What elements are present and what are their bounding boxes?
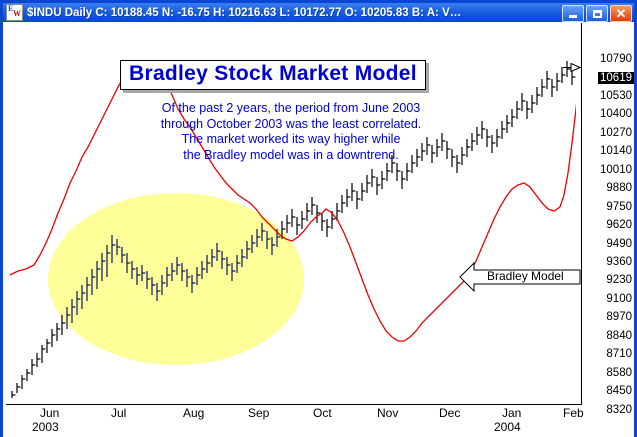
date-tick-jul: Jul	[111, 406, 126, 420]
price-tick-9750: 9750	[606, 201, 632, 213]
chart-client-area: 1079010660105301040010270101401001098809…	[3, 22, 634, 437]
price-tick-9100: 9100	[606, 293, 632, 305]
callout-label: Bradley Model	[487, 269, 564, 283]
y-axis-line	[581, 23, 582, 405]
date-tick-sep: Sep	[248, 406, 269, 420]
bradley-model-callout: Bradley Model	[459, 262, 581, 292]
date-tick-nov: Nov	[377, 406, 398, 420]
application-window: E W $INDU Daily C: 10188.45 N: -16.75 H:…	[0, 0, 637, 437]
price-tick-9620: 9620	[606, 219, 632, 231]
icon-letter-w: W	[13, 10, 21, 18]
annotation-text-block: Of the past 2 years, the period from Jun…	[135, 101, 447, 163]
price-tick-9880: 9880	[606, 182, 632, 194]
price-tick-8970: 8970	[606, 311, 632, 323]
title-bar[interactable]: E W $INDU Daily C: 10188.45 N: -16.75 H:…	[3, 3, 634, 22]
price-tick-10790: 10790	[600, 53, 632, 65]
maximize-button[interactable]	[586, 5, 608, 22]
price-tick-8450: 8450	[606, 385, 632, 397]
price-tick-9490: 9490	[606, 238, 632, 250]
annotation-line-4: the Bradley model was in a downtrend.	[135, 148, 447, 164]
price-tick-10400: 10400	[600, 108, 632, 120]
date-tick-aug: Aug	[183, 406, 204, 420]
date-tick-dec: Dec	[439, 406, 460, 420]
window-title: $INDU Daily C: 10188.45 N: -16.75 H: 102…	[27, 7, 461, 19]
date-tick-oct: Oct	[313, 406, 332, 420]
window-controls: ✕	[562, 5, 632, 22]
minimize-button[interactable]	[562, 5, 584, 22]
date-tick-jun: Jun	[40, 406, 59, 420]
current-price-marker-icon	[563, 63, 581, 72]
price-tick-9230: 9230	[606, 274, 632, 286]
annotation-line-3: The market worked its way higher while	[135, 132, 447, 148]
date-year-2004: 2004	[494, 420, 521, 434]
annotation-line-1: Of the past 2 years, the period from Jun…	[135, 101, 447, 117]
close-icon: ✕	[616, 7, 627, 20]
date-axis: Jun2003JulAugSepOctNovDecJan2004Feb	[3, 406, 634, 436]
price-tick-8710: 8710	[606, 348, 632, 360]
date-tick-jan: Jan	[502, 406, 521, 420]
close-button[interactable]: ✕	[610, 5, 632, 22]
x-axis-line	[6, 404, 582, 405]
annotation-line-2: through October 2003 was the least corre…	[135, 117, 447, 133]
date-tick-feb: Feb	[563, 406, 584, 420]
chart-title-box: Bradley Stock Market Model	[120, 60, 426, 90]
price-axis[interactable]: 1079010660105301040010270101401001098809…	[585, 22, 634, 406]
chart-title-text: Bradley Stock Market Model	[129, 62, 417, 85]
minimize-icon	[569, 15, 577, 18]
price-tick-10010: 10010	[600, 164, 632, 176]
price-tick-9360: 9360	[606, 256, 632, 268]
price-tick-8580: 8580	[606, 367, 632, 379]
document-chart-icon: E W	[6, 4, 23, 21]
price-tick-10140: 10140	[600, 145, 632, 157]
maximize-icon	[593, 10, 602, 18]
current-price-label: 10619	[598, 72, 634, 84]
price-tick-10270: 10270	[600, 127, 632, 139]
date-year-2003: 2003	[32, 420, 59, 434]
price-tick-8840: 8840	[606, 330, 632, 342]
price-tick-10530: 10530	[600, 90, 632, 102]
